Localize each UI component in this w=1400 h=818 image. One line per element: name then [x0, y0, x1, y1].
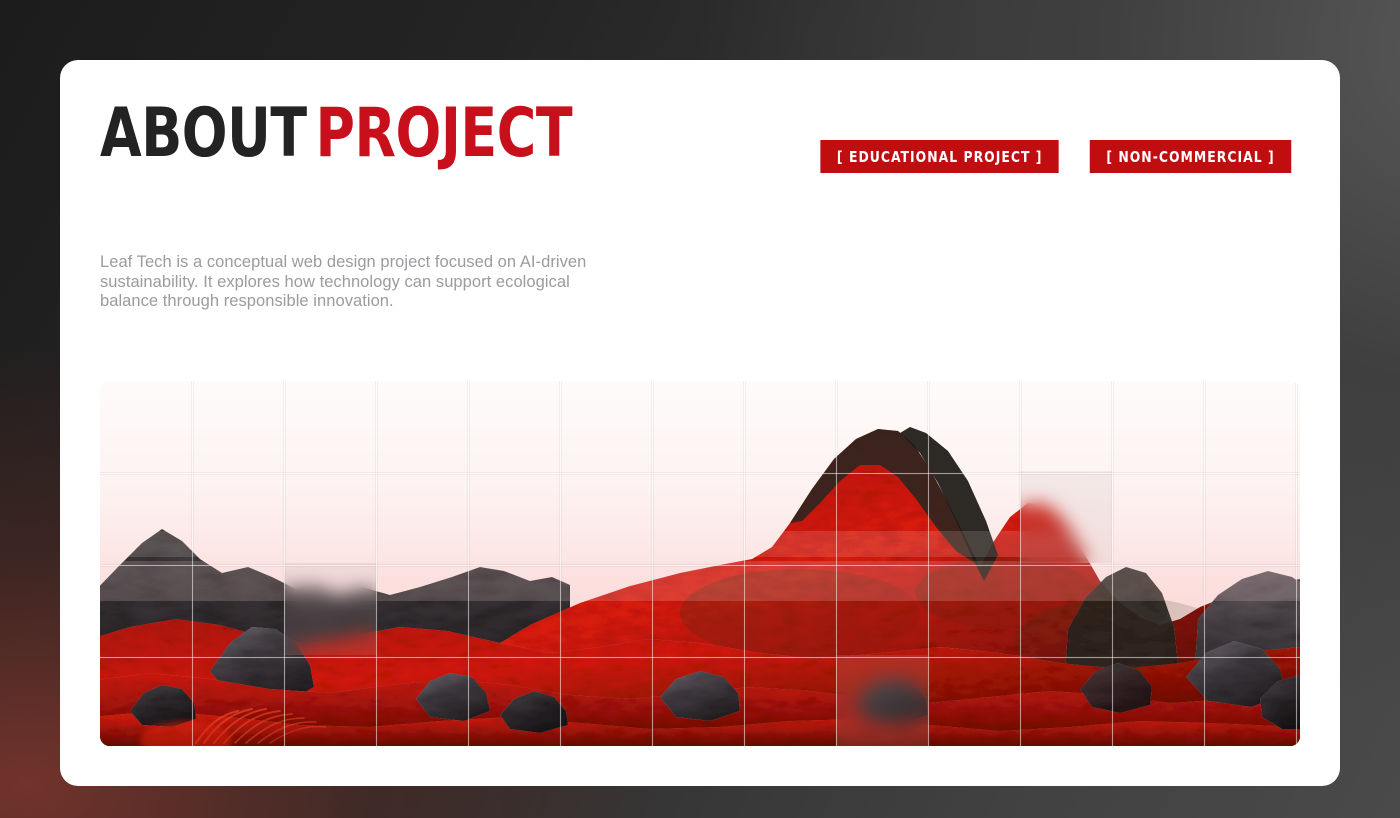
landscape-visual: [100, 381, 1300, 746]
badge-non-commercial[interactable]: [ NON-COMMERCIAL ]: [1090, 140, 1291, 173]
landscape-illustration: [100, 381, 1300, 746]
page-title-part-one: ABOUT: [100, 94, 307, 173]
intro-paragraph: Leaf Tech is a conceptual web design pro…: [100, 253, 620, 312]
page-title: ABOUTPROJECT: [100, 98, 572, 170]
page-background: ABOUTPROJECT [ EDUCATIONAL PROJECT ] [ N…: [0, 0, 1400, 818]
card-header: ABOUTPROJECT [ EDUCATIONAL PROJECT ] [ N…: [100, 98, 1300, 178]
badge-educational-project[interactable]: [ EDUCATIONAL PROJECT ]: [820, 140, 1059, 173]
page-title-part-two: PROJECT: [315, 94, 572, 173]
badge-group: [ EDUCATIONAL PROJECT ] [ NON-COMMERCIAL…: [810, 140, 1300, 173]
about-project-card: ABOUTPROJECT [ EDUCATIONAL PROJECT ] [ N…: [60, 60, 1340, 786]
